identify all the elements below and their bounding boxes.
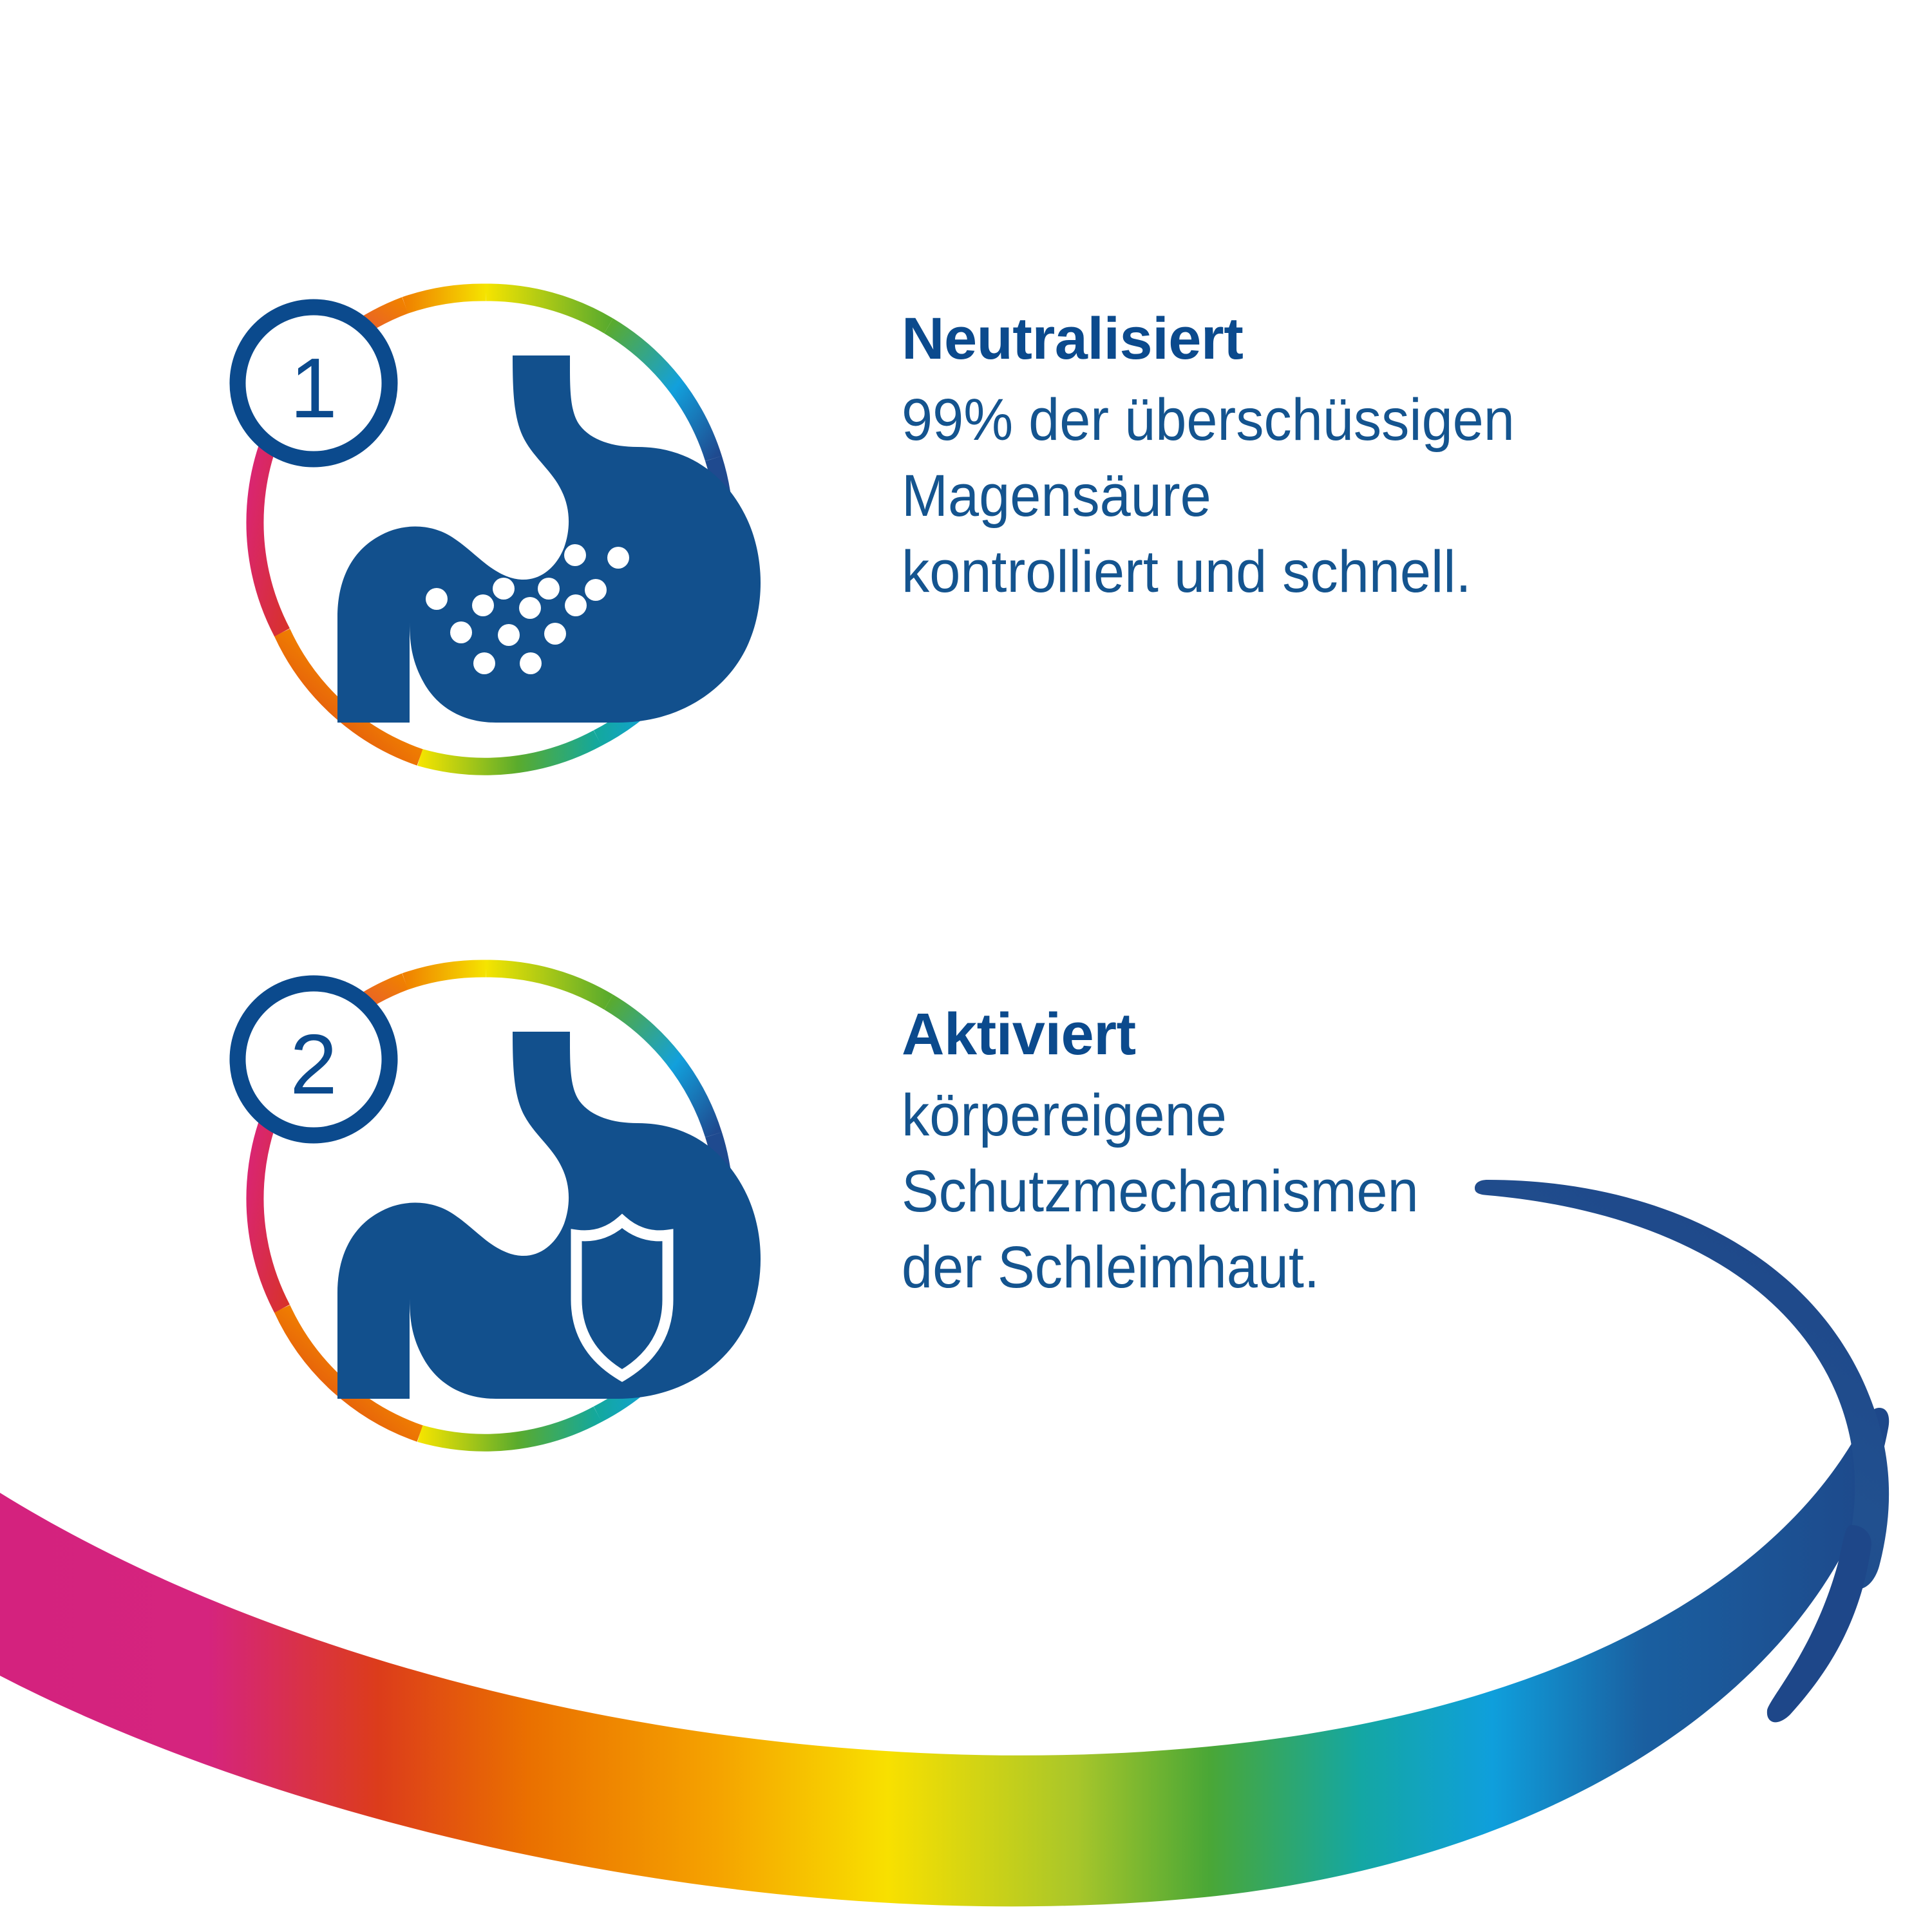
step-1-number-badge: 1 (238, 307, 390, 459)
step-2-number-label: 2 (290, 1017, 337, 1112)
step-1-icon-group: 1 (238, 292, 761, 766)
step-1-text-block: Neutralisiert 99% der überschüssigen Mag… (902, 309, 1554, 601)
step-1-body-line-1: 99% der überschüssigen (902, 390, 1515, 450)
shield-icon (576, 1221, 668, 1376)
step-1-number-label: 1 (290, 341, 337, 435)
step-2-body-line-2: Schutzmechanismen (902, 1162, 1419, 1221)
step-2-body-line-3: der Schleimhaut. (902, 1238, 1419, 1297)
step-2-heading: Aktiviert (902, 1005, 1452, 1064)
step-1-body-line-3: kontrolliert und schnell. (902, 542, 1515, 601)
step-1-heading: Neutralisiert (902, 309, 1554, 368)
infographic-canvas: 1 (0, 0, 1932, 1932)
graphics-layer: 1 (0, 0, 1932, 1932)
step-2-body-line-1: körpereigene (902, 1086, 1419, 1145)
step-2-text-block: Aktiviert körpereigene Schutzmechanismen… (902, 1005, 1452, 1297)
step-2-icon-group: 2 (238, 969, 761, 1443)
step-2-number-badge: 2 (238, 983, 390, 1135)
step-1-body-line-2: Magensäure (902, 466, 1515, 526)
